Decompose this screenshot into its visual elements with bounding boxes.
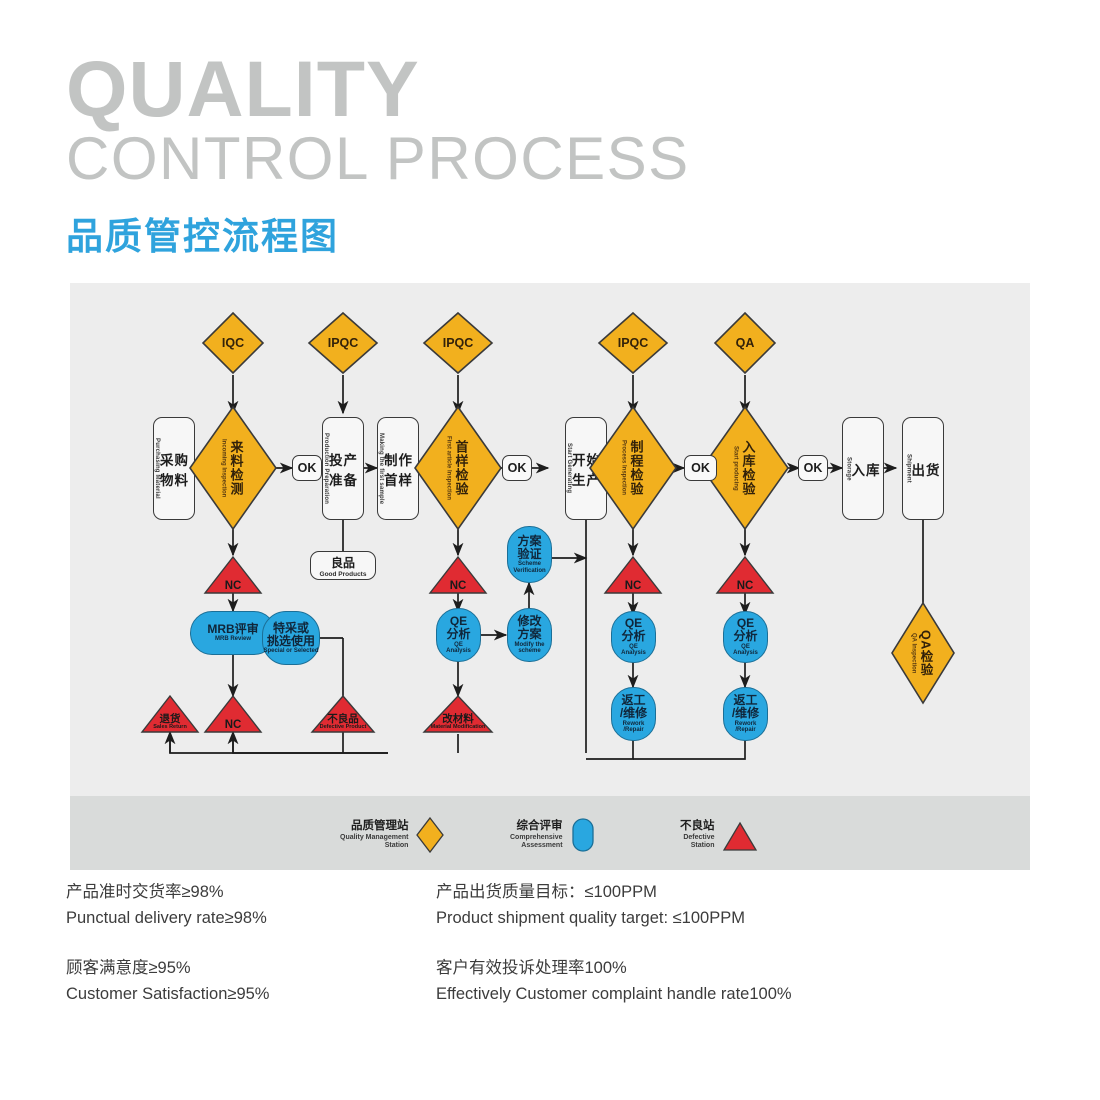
metric-complaint-handle-rate: 客户有效投诉处理率100% Effectively Customer compl… [436, 956, 956, 1007]
inspection-qa[interactable]: QA检验 QA Inspection [890, 601, 956, 705]
legend-defective-station: 不良站 Defective Station [680, 816, 758, 854]
assessment-modify-scheme[interactable]: 修改 方案 Modify the scheme [507, 608, 552, 662]
legend-quality-management-station: 品质管理站 Quality Management Station [340, 816, 445, 854]
footer-column-right: 产品出货质量目标：≤100PPM Product shipment qualit… [436, 880, 956, 1032]
flowchart-stage: IQC IPQC IPQC IPQC QA 采购物料 Purchasing Ma… [70, 283, 1030, 796]
ok-gate-1[interactable]: OK [292, 455, 322, 481]
assessment-qe-analysis-first-article[interactable]: QE 分析 QE Analysis [436, 608, 481, 662]
good-products-box[interactable]: 良品 Good Products [310, 551, 376, 580]
title-chinese: 品质管控流程图 [66, 206, 966, 260]
assessment-scheme-verification[interactable]: 方案 验证 Scheme Verification [507, 526, 552, 583]
title-control-process: CONTROL PROCESS [66, 127, 966, 190]
qc-station-qa[interactable]: QA [713, 311, 777, 375]
process-box-shipment[interactable]: 出货 Shipment [902, 417, 944, 520]
assessment-qe-analysis-storage[interactable]: QE 分析 QE Analysis [723, 611, 768, 663]
qc-station-ipqc-3[interactable]: IPQC [597, 311, 669, 375]
legend-bar: 品质管理站 Quality Management Station 综合评审 Co… [70, 796, 1030, 870]
qc-station-ipqc-2[interactable]: IPQC [422, 311, 494, 375]
process-box-storage[interactable]: 入库 Storage [842, 417, 884, 520]
defect-sales-return[interactable]: 退货 Sales Return [140, 694, 200, 734]
metric-customer-satisfaction: 顾客满意度≥95% Customer Satisfaction≥95% [66, 956, 416, 1007]
process-box-production-preparation[interactable]: 投产准备 Production Preparation [322, 417, 364, 520]
assessment-qe-analysis-process[interactable]: QE 分析 QE Analysis [611, 611, 656, 663]
triangle-icon [722, 816, 758, 854]
qc-station-ipqc-1[interactable]: IPQC [307, 311, 379, 375]
legend-comprehensive-assessment: 综合评审 Comprehensive Assessment [510, 816, 596, 854]
assessment-special-or-selected[interactable]: 特采或 挑选使用 Special or Selected [262, 611, 320, 665]
defect-material-modification[interactable]: 改材料 Material Modification [422, 694, 494, 734]
page-header: QUALITY CONTROL PROCESS 品质管控流程图 [66, 52, 966, 260]
nc-marker-first-article[interactable]: NC [428, 555, 488, 595]
nc-marker-incoming[interactable]: NC [203, 555, 263, 595]
metric-punctual-delivery: 产品准时交货率≥98% Punctual delivery rate≥98% [66, 880, 416, 931]
inspection-incoming[interactable]: 来料检测 Incoming Inspection [188, 405, 278, 531]
ok-gate-3[interactable]: OK [684, 455, 717, 481]
ok-gate-2[interactable]: OK [502, 455, 532, 481]
nc-marker-storage[interactable]: NC [715, 555, 775, 595]
defect-defective-product[interactable]: 不良品 Defective Product [310, 694, 376, 734]
nc-marker-process[interactable]: NC [603, 555, 663, 595]
ok-gate-4[interactable]: OK [798, 455, 828, 481]
qc-station-iqc[interactable]: IQC [201, 311, 265, 375]
metric-shipment-quality: 产品出货质量目标：≤100PPM Product shipment qualit… [436, 880, 956, 931]
assessment-rework-repair-storage[interactable]: 返工 /维修 Rework /Repair [723, 687, 768, 741]
title-quality: QUALITY [66, 52, 966, 125]
inspection-process[interactable]: 制程检验 Process Inspection [588, 405, 678, 531]
footer-column-left: 产品准时交货率≥98% Punctual delivery rate≥98% 顾… [66, 880, 416, 1032]
ellipse-icon [570, 816, 596, 854]
flowchart-panel: IQC IPQC IPQC IPQC QA 采购物料 Purchasing Ma… [70, 283, 1030, 796]
nc-marker-mrb[interactable]: NC [203, 694, 263, 734]
diamond-icon [415, 816, 445, 854]
assessment-rework-repair-process[interactable]: 返工 /维修 Rework /Repair [611, 687, 656, 741]
inspection-first-article[interactable]: 首样检验 First article Inspection [413, 405, 503, 531]
